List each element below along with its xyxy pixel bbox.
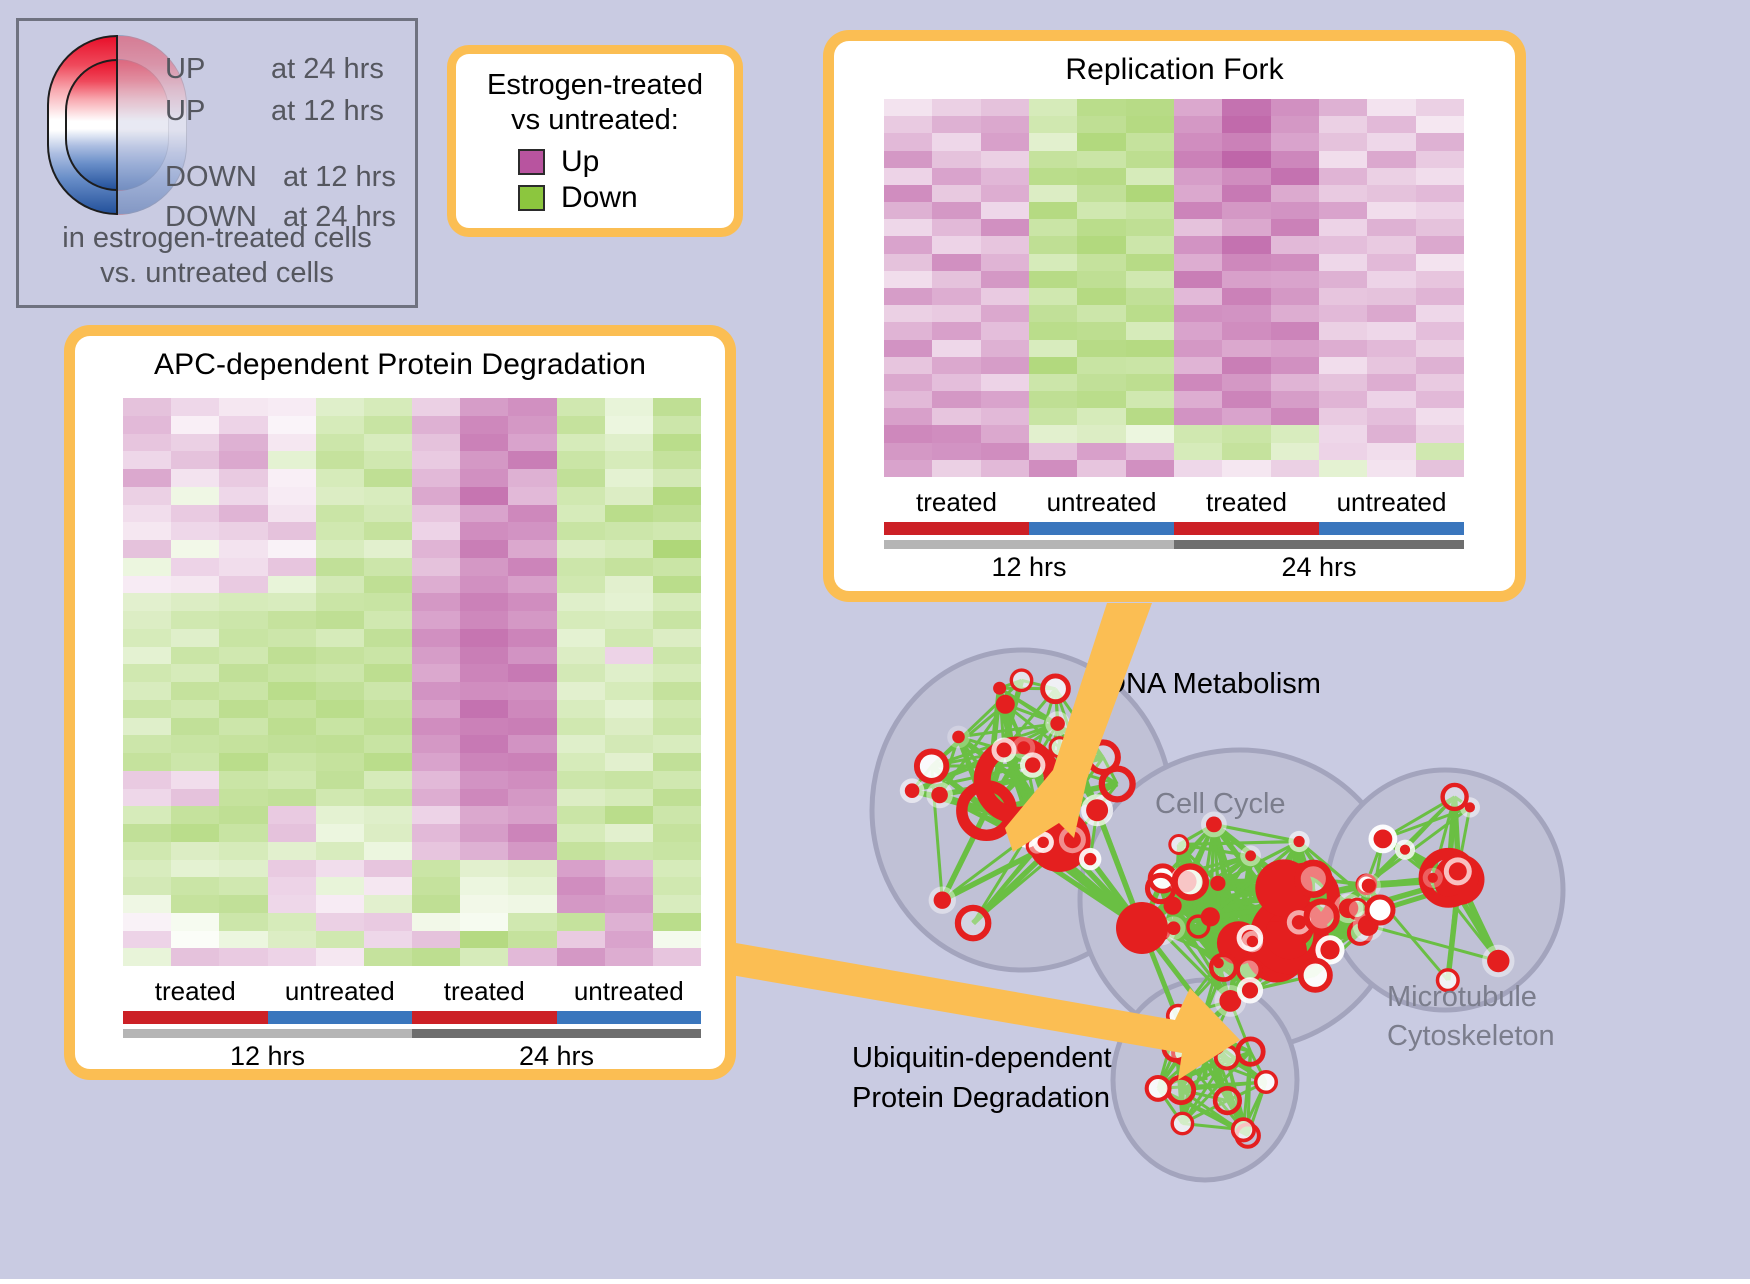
heatmap-cell — [1174, 99, 1222, 116]
heatmap-cell — [1174, 236, 1222, 253]
heatmap-cell — [1367, 322, 1415, 339]
heatmap-cell — [1029, 271, 1077, 288]
heatmap-cell — [219, 558, 267, 576]
heatmap-cell — [171, 576, 219, 594]
heatmap-cell — [1222, 151, 1270, 168]
legend-label-down: Down — [561, 181, 638, 215]
apc-group-label-1: untreated — [268, 976, 413, 1007]
heatmap-cell — [123, 789, 171, 807]
heatmap-cell — [508, 771, 556, 789]
apc-time-bar-24 — [412, 1029, 701, 1038]
heatmap-cell — [171, 558, 219, 576]
heatmap-cell — [508, 931, 556, 949]
heatmap-cell — [605, 913, 653, 931]
heatmap-cell — [412, 948, 460, 966]
heatmap-cell — [884, 219, 932, 236]
cluster-label-microtubule: Microtubule — [1387, 981, 1537, 1014]
heatmap-cell — [508, 948, 556, 966]
heatmap-cell — [123, 735, 171, 753]
heatmap-cell — [653, 540, 701, 558]
heatmap-cell — [653, 824, 701, 842]
cluster-label-cytoskeleton: Cytoskeleton — [1387, 1020, 1555, 1053]
heatmap-cell — [1271, 443, 1319, 460]
heatmap-cell — [605, 753, 653, 771]
heatmap-cell — [412, 931, 460, 949]
color-key-footer-line2: vs. untreated cells — [19, 256, 415, 291]
heatmap-cell — [605, 771, 653, 789]
heatmap-cell — [884, 185, 932, 202]
heatmap-cell — [412, 416, 460, 434]
heatmap-cell — [981, 305, 1029, 322]
heatmap-cell — [1416, 271, 1464, 288]
heatmap-cell — [268, 593, 316, 611]
heatmap-cell — [123, 913, 171, 931]
heatmap-cell — [1319, 391, 1367, 408]
heatmap-cell — [1174, 271, 1222, 288]
heatmap-cell — [1319, 443, 1367, 460]
heatmap-cell — [981, 254, 1029, 271]
heatmap-cell — [171, 522, 219, 540]
heatmap-cell — [981, 391, 1029, 408]
heatmap-cell — [1077, 322, 1125, 339]
rf-bar-untreated-12 — [1029, 522, 1174, 535]
heatmap-cell — [364, 505, 412, 523]
heatmap-cell — [1077, 151, 1125, 168]
heatmap-cell — [1222, 288, 1270, 305]
heatmap-cell — [1319, 185, 1367, 202]
heatmap-cell — [316, 469, 364, 487]
heatmap-cell — [508, 895, 556, 913]
heatmap-cell — [557, 611, 605, 629]
heatmap-cell — [1126, 185, 1174, 202]
heatmap-cell — [1126, 425, 1174, 442]
heatmap-cell — [1126, 391, 1174, 408]
heatmap-cell — [268, 558, 316, 576]
heatmap-cell — [316, 398, 364, 416]
heatmap-cell — [884, 151, 932, 168]
heatmap-cell — [605, 895, 653, 913]
heatmap-cell — [1174, 425, 1222, 442]
rf-group-label-1: untreated — [1029, 487, 1174, 518]
apc-bar-untreated-24 — [557, 1011, 702, 1024]
heatmap-cell — [1077, 374, 1125, 391]
heatmap-cell — [932, 99, 980, 116]
heatmap-cell — [1174, 460, 1222, 477]
heatmap-cell — [1126, 460, 1174, 477]
heatmap-cell — [1271, 133, 1319, 150]
heatmap-cell — [1271, 357, 1319, 374]
heatmap-cell — [557, 451, 605, 469]
heatmap-cell — [1416, 305, 1464, 322]
heatmap-cell — [653, 416, 701, 434]
heatmap-cell — [268, 398, 316, 416]
heatmap-cell — [412, 718, 460, 736]
heatmap-cell — [1271, 460, 1319, 477]
apc-title: APC-dependent Protein Degradation — [75, 336, 725, 382]
heatmap-cell — [1222, 133, 1270, 150]
heatmap-cell — [123, 877, 171, 895]
heatmap-cell — [316, 416, 364, 434]
heatmap-cell — [1222, 340, 1270, 357]
heatmap-cell — [981, 288, 1029, 305]
heatmap-cell — [1271, 391, 1319, 408]
heatmap-cell — [364, 451, 412, 469]
heatmap-cell — [1077, 116, 1125, 133]
heatmap-cell — [364, 682, 412, 700]
heatmap-cell — [171, 735, 219, 753]
heatmap-cell — [1222, 443, 1270, 460]
apc-time-bars — [123, 1029, 701, 1038]
heatmap-cell — [653, 434, 701, 452]
heatmap-cell — [981, 425, 1029, 442]
heatmap-cell — [1126, 340, 1174, 357]
network-node — [1116, 902, 1168, 954]
heatmap-cell — [460, 948, 508, 966]
heatmap-cell — [364, 700, 412, 718]
heatmap-cell — [123, 948, 171, 966]
heatmap-cell — [653, 451, 701, 469]
heatmap-cell — [412, 576, 460, 594]
heatmap-cell — [219, 700, 267, 718]
heatmap-cell — [508, 877, 556, 895]
heatmap-cell — [1271, 236, 1319, 253]
heatmap-cell — [653, 718, 701, 736]
heatmap-cell — [1416, 185, 1464, 202]
heatmap-cell — [1174, 443, 1222, 460]
heatmap-cell — [605, 860, 653, 878]
heatmap-cell — [123, 522, 171, 540]
heatmap-cell — [1319, 408, 1367, 425]
heatmap-cell — [557, 593, 605, 611]
heatmap-cell — [1222, 425, 1270, 442]
heatmap-cell — [316, 753, 364, 771]
network-node — [1164, 897, 1182, 915]
heatmap-cell — [557, 753, 605, 771]
heatmap-cell — [123, 718, 171, 736]
replication-fork-heatmap — [884, 99, 1464, 477]
heatmap-cell — [508, 434, 556, 452]
heatmap-cell — [1222, 236, 1270, 253]
heatmap-cell — [981, 271, 1029, 288]
heatmap-cell — [1029, 357, 1077, 374]
heatmap-cell — [123, 753, 171, 771]
heatmap-cell — [1319, 271, 1367, 288]
heatmap-cell — [1416, 322, 1464, 339]
heatmap-cell — [219, 753, 267, 771]
heatmap-cell — [557, 718, 605, 736]
heatmap-cell — [508, 789, 556, 807]
heatmap-cell — [653, 522, 701, 540]
updown-legend-panel: Estrogen-treated vs untreated: Up Down — [447, 45, 743, 237]
heatmap-cell — [884, 425, 932, 442]
heatmap-cell — [605, 398, 653, 416]
heatmap-cell — [932, 305, 980, 322]
heatmap-cell — [1077, 408, 1125, 425]
heatmap-cell — [364, 753, 412, 771]
heatmap-cell — [1174, 116, 1222, 133]
heatmap-cell — [1174, 254, 1222, 271]
heatmap-cell — [171, 771, 219, 789]
network-node — [996, 695, 1015, 714]
heatmap-cell — [557, 860, 605, 878]
heatmap-cell — [1126, 99, 1174, 116]
heatmap-cell — [1126, 305, 1174, 322]
heatmap-cell — [1029, 202, 1077, 219]
heatmap-cell — [412, 558, 460, 576]
heatmap-cell — [268, 931, 316, 949]
heatmap-cell — [1222, 202, 1270, 219]
heatmap-cell — [460, 842, 508, 860]
heatmap-cell — [653, 860, 701, 878]
rf-group-labels: treated untreated treated untreated — [884, 487, 1464, 518]
heatmap-cell — [268, 647, 316, 665]
legend-item-up: Up — [518, 145, 734, 179]
heatmap-cell — [268, 948, 316, 966]
heatmap-cell — [605, 416, 653, 434]
legend-item-down: Down — [518, 181, 734, 215]
heatmap-cell — [219, 487, 267, 505]
heatmap-cell — [412, 593, 460, 611]
heatmap-cell — [364, 860, 412, 878]
heatmap-cell — [1367, 271, 1415, 288]
heatmap-cell — [460, 824, 508, 842]
heatmap-cell — [1077, 357, 1125, 374]
heatmap-cell — [412, 487, 460, 505]
heatmap-cell — [123, 842, 171, 860]
up-swatch-icon — [518, 149, 545, 175]
heatmap-cell — [1367, 202, 1415, 219]
heatmap-cell — [932, 408, 980, 425]
heatmap-cell — [219, 948, 267, 966]
heatmap-cell — [1029, 185, 1077, 202]
heatmap-cell — [1077, 288, 1125, 305]
heatmap-cell — [316, 522, 364, 540]
heatmap-cell — [932, 236, 980, 253]
network-node — [1050, 716, 1065, 731]
heatmap-cell — [605, 469, 653, 487]
heatmap-cell — [123, 664, 171, 682]
heatmap-cell — [932, 168, 980, 185]
heatmap-cell — [1126, 322, 1174, 339]
apc-group-label-0: treated — [123, 976, 268, 1007]
heatmap-cell — [412, 735, 460, 753]
heatmap-cell — [268, 540, 316, 558]
heatmap-cell — [460, 895, 508, 913]
ring-divider — [116, 35, 118, 215]
heatmap-cell — [1222, 357, 1270, 374]
heatmap-cell — [1126, 168, 1174, 185]
heatmap-cell — [171, 806, 219, 824]
heatmap-cell — [508, 860, 556, 878]
network-node — [1210, 876, 1225, 891]
network-node — [1167, 921, 1181, 935]
heatmap-cell — [412, 753, 460, 771]
apc-group-labels: treated untreated treated untreated — [123, 976, 701, 1007]
heatmap-cell — [219, 576, 267, 594]
heatmap-cell — [981, 322, 1029, 339]
heatmap-cell — [557, 434, 605, 452]
heatmap-cell — [316, 842, 364, 860]
heatmap-cell — [884, 305, 932, 322]
color-key-footer: in estrogen-treated cells vs. untreated … — [19, 221, 415, 292]
heatmap-cell — [123, 505, 171, 523]
heatmap-cell — [557, 789, 605, 807]
heatmap-cell — [316, 451, 364, 469]
heatmap-cell — [364, 913, 412, 931]
heatmap-cell — [123, 895, 171, 913]
heatmap-cell — [981, 374, 1029, 391]
heatmap-cell — [557, 842, 605, 860]
heatmap-cell — [1222, 408, 1270, 425]
heatmap-cell — [219, 505, 267, 523]
heatmap-cell — [1416, 425, 1464, 442]
heatmap-cell — [219, 647, 267, 665]
heatmap-cell — [460, 789, 508, 807]
heatmap-cell — [1367, 168, 1415, 185]
heatmap-cell — [460, 451, 508, 469]
heatmap-cell — [460, 664, 508, 682]
heatmap-cell — [171, 540, 219, 558]
heatmap-cell — [932, 391, 980, 408]
heatmap-cell — [364, 487, 412, 505]
heatmap-cell — [1271, 254, 1319, 271]
heatmap-cell — [557, 576, 605, 594]
heatmap-cell — [316, 771, 364, 789]
heatmap-cell — [316, 735, 364, 753]
heatmap-cell — [1174, 391, 1222, 408]
heatmap-cell — [460, 558, 508, 576]
heatmap-cell — [653, 611, 701, 629]
heatmap-cell — [171, 398, 219, 416]
heatmap-cell — [364, 895, 412, 913]
heatmap-cell — [268, 824, 316, 842]
network-node — [1038, 837, 1049, 848]
heatmap-cell — [219, 718, 267, 736]
heatmap-cell — [460, 434, 508, 452]
heatmap-cell — [1029, 151, 1077, 168]
heatmap-cell — [653, 664, 701, 682]
heatmap-cell — [364, 522, 412, 540]
heatmap-cell — [316, 700, 364, 718]
heatmap-cell — [1416, 408, 1464, 425]
heatmap-cell — [1271, 322, 1319, 339]
heatmap-cell — [171, 487, 219, 505]
heatmap-cell — [1271, 305, 1319, 322]
heatmap-cell — [557, 469, 605, 487]
heatmap-cell — [219, 593, 267, 611]
heatmap-cell — [981, 219, 1029, 236]
heatmap-cell — [981, 151, 1029, 168]
heatmap-cell — [1367, 340, 1415, 357]
network-node — [1374, 830, 1393, 849]
heatmap-cell — [1367, 408, 1415, 425]
network-node — [1400, 845, 1410, 855]
heatmap-cell — [268, 611, 316, 629]
heatmap-cell — [1077, 254, 1125, 271]
heatmap-cell — [1174, 202, 1222, 219]
heatmap-cell — [653, 895, 701, 913]
heatmap-cell — [605, 948, 653, 966]
heatmap-cell — [1077, 443, 1125, 460]
network-node — [1025, 757, 1040, 772]
heatmap-cell — [219, 451, 267, 469]
heatmap-cell — [884, 460, 932, 477]
panel-replication-fork: Replication Fork treated untreated treat… — [823, 30, 1526, 602]
rf-bar-treated-12 — [884, 522, 1029, 535]
heatmap-cell — [605, 664, 653, 682]
heatmap-cell — [508, 469, 556, 487]
heatmap-cell — [1222, 271, 1270, 288]
heatmap-cell — [884, 116, 932, 133]
heatmap-cell — [1174, 322, 1222, 339]
rf-bar-untreated-24 — [1319, 522, 1464, 535]
heatmap-cell — [557, 877, 605, 895]
network-diagram: DNA Metabolism Cell Cycle Microtubule Cy… — [790, 610, 1750, 1279]
heatmap-cell — [364, 629, 412, 647]
heatmap-cell — [219, 682, 267, 700]
heatmap-cell — [171, 664, 219, 682]
heatmap-cell — [171, 682, 219, 700]
heatmap-cell — [884, 168, 932, 185]
heatmap-cell — [412, 842, 460, 860]
heatmap-cell — [1367, 133, 1415, 150]
heatmap-cell — [508, 629, 556, 647]
heatmap-cell — [557, 505, 605, 523]
heatmap-cell — [605, 700, 653, 718]
network-node — [1064, 831, 1081, 848]
heatmap-cell — [364, 806, 412, 824]
heatmap-cell — [460, 522, 508, 540]
key-time-down-12: at 12 hrs — [283, 161, 396, 194]
heatmap-cell — [884, 133, 932, 150]
heatmap-cell — [412, 647, 460, 665]
heatmap-cell — [316, 913, 364, 931]
heatmap-cell — [219, 434, 267, 452]
apc-time-label-12: 12 hrs — [123, 1041, 412, 1072]
heatmap-cell — [1222, 374, 1270, 391]
heatmap-cell — [268, 434, 316, 452]
heatmap-cell — [171, 593, 219, 611]
heatmap-cell — [268, 718, 316, 736]
heatmap-cell — [460, 753, 508, 771]
heatmap-cell — [557, 664, 605, 682]
heatmap-cell — [1029, 219, 1077, 236]
heatmap-cell — [1416, 340, 1464, 357]
heatmap-cell — [981, 460, 1029, 477]
heatmap-cell — [268, 789, 316, 807]
heatmap-cell — [653, 753, 701, 771]
heatmap-cell — [171, 860, 219, 878]
heatmap-cell — [219, 735, 267, 753]
heatmap-cell — [268, 895, 316, 913]
color-key-footer-line1: in estrogen-treated cells — [19, 221, 415, 256]
heatmap-cell — [1222, 460, 1270, 477]
heatmap-cell — [1416, 374, 1464, 391]
heatmap-cell — [268, 469, 316, 487]
heatmap-cell — [653, 647, 701, 665]
heatmap-cell — [653, 629, 701, 647]
updown-legend-title: Estrogen-treated vs untreated: — [456, 68, 734, 139]
heatmap-cell — [171, 753, 219, 771]
cluster-label-ubiquitin-1: Ubiquitin-dependent — [852, 1042, 1112, 1075]
heatmap-cell — [460, 611, 508, 629]
apc-group-label-3: untreated — [557, 976, 702, 1007]
heatmap-cell — [981, 357, 1029, 374]
heatmap-cell — [1367, 391, 1415, 408]
heatmap-cell — [219, 789, 267, 807]
heatmap-cell — [884, 202, 932, 219]
heatmap-cell — [1029, 425, 1077, 442]
